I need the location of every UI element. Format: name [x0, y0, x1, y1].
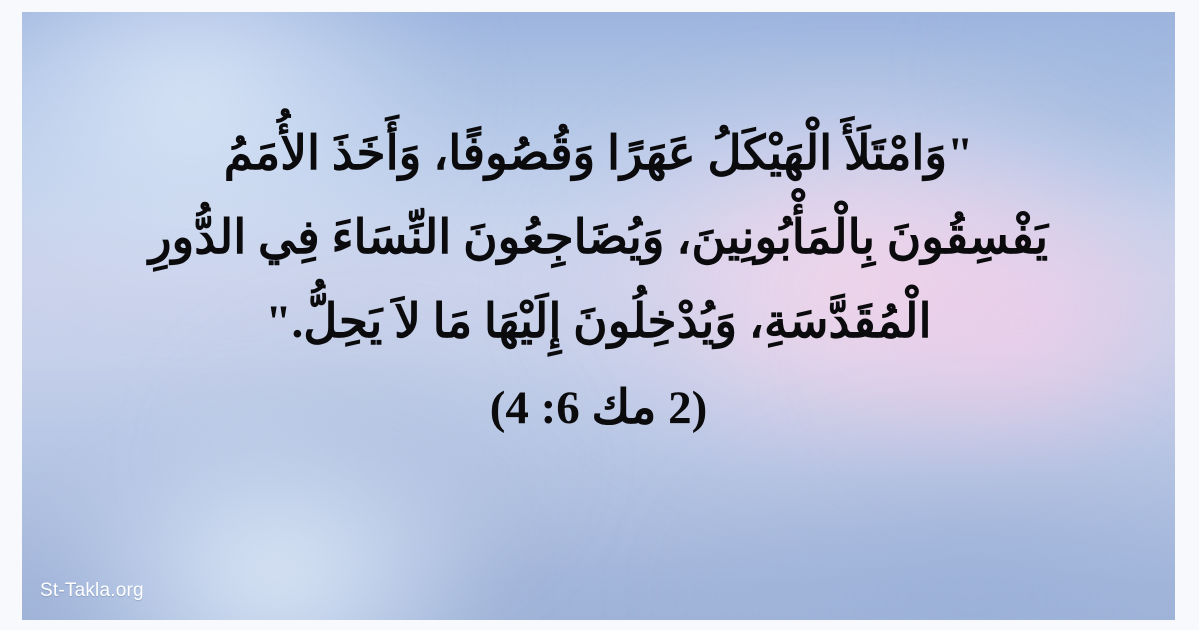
site-watermark: St-Takla.org: [34, 579, 150, 604]
verse-line-1: "وَامْتَلَأَ الْهَيْكَلُ عَهَرًا وَقُصُو…: [50, 112, 1147, 196]
verse-line-3: الْمُقَدَّسَةِ، وَيُدْخِلُونَ إِلَيْهَا …: [50, 280, 1147, 364]
verse-image-canvas: "وَامْتَلَأَ الْهَيْكَلُ عَهَرًا وَقُصُو…: [0, 0, 1199, 630]
verse-reference: (2 مك 6: 4): [50, 370, 1147, 446]
background-photo: "وَامْتَلَأَ الْهَيْكَلُ عَهَرًا وَقُصُو…: [22, 12, 1175, 620]
bokeh-shade-bottom-right: [662, 432, 1175, 620]
verse-text-block: "وَامْتَلَأَ الْهَيْكَلُ عَهَرًا وَقُصُو…: [22, 112, 1175, 446]
verse-line-2: يَفْسِقُونَ بِالْمَأْبُونِينَ، وَيُضَاجِ…: [50, 196, 1147, 280]
